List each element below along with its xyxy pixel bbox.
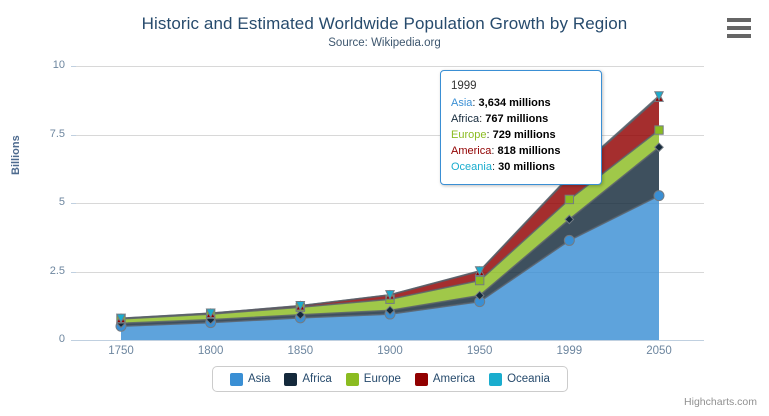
tooltip-row-africa: Africa: 767 millions xyxy=(451,111,591,127)
menu-bar-3 xyxy=(727,34,751,38)
hamburger-menu-icon[interactable] xyxy=(727,18,751,38)
y-axis-tick-label: 5 xyxy=(5,196,65,208)
tooltip-series-name: Oceania xyxy=(451,161,492,173)
menu-bar-2 xyxy=(727,26,751,30)
page-title: Historic and Estimated Worldwide Populat… xyxy=(0,14,769,34)
data-point-asia-1999[interactable] xyxy=(564,235,574,245)
legend-label: Oceania xyxy=(507,373,550,385)
tooltip-series-value: 30 millions xyxy=(498,161,555,173)
tooltip-series-value: 767 millions xyxy=(485,113,548,125)
tooltip-series-name: Europe xyxy=(451,129,486,141)
legend-swatch-oceania-icon xyxy=(489,373,502,386)
y-axis-title: Billions xyxy=(10,135,22,175)
tooltip-series-name: America xyxy=(451,145,491,157)
tooltip-row-europe: Europe: 729 millions xyxy=(451,127,591,143)
legend-label: Africa xyxy=(302,373,331,385)
legend-swatch-america-icon xyxy=(415,373,428,386)
legend-swatch-europe-icon xyxy=(346,373,359,386)
x-axis-tick-label: 1900 xyxy=(360,345,420,357)
tooltip-row-oceania: Oceania: 30 millions xyxy=(451,159,591,175)
tooltip-series-value: 818 millions xyxy=(497,145,560,157)
tooltip-row-america: America: 818 millions xyxy=(451,143,591,159)
x-axis-tick-label: 1800 xyxy=(181,345,241,357)
chart-plot-area xyxy=(76,66,704,340)
legend-item-oceania[interactable]: Oceania xyxy=(489,373,550,386)
x-axis-tick-label: 1999 xyxy=(539,345,599,357)
legend-item-europe[interactable]: Europe xyxy=(346,373,401,386)
tooltip-series-value: 729 millions xyxy=(493,129,556,141)
tooltip-header: 1999 xyxy=(451,78,591,94)
y-axis-tick-label: 0 xyxy=(5,333,65,345)
data-point-europe-1950[interactable] xyxy=(475,276,483,284)
data-point-asia-2050[interactable] xyxy=(654,191,664,201)
x-axis-tick-label: 1850 xyxy=(270,345,330,357)
tooltip-row-asia: Asia: 3,634 millions xyxy=(451,95,591,111)
y-axis-tick-label: 10 xyxy=(5,59,65,71)
legend-label: America xyxy=(433,373,475,385)
x-axis-line xyxy=(76,340,704,341)
x-axis-tick-label: 1950 xyxy=(450,345,510,357)
x-axis-tick-label: 2050 xyxy=(629,345,689,357)
y-axis-tick-label: 7.5 xyxy=(5,128,65,140)
tooltip-series-value: 3,634 millions xyxy=(479,97,551,109)
y-axis-tick-label: 2.5 xyxy=(5,265,65,277)
chart-subtitle: Source: Wikipedia.org xyxy=(0,37,769,49)
legend-item-america[interactable]: America xyxy=(415,373,475,386)
legend-label: Europe xyxy=(364,373,401,385)
legend-item-asia[interactable]: Asia xyxy=(230,373,270,386)
x-axis-tick-label: 1750 xyxy=(91,345,151,357)
tooltip-series-name: Asia xyxy=(451,97,472,109)
legend-item-africa[interactable]: Africa xyxy=(284,373,331,386)
menu-bar-1 xyxy=(727,18,751,22)
tooltip-series-name: Africa xyxy=(451,113,479,125)
chart-legend: AsiaAfricaEuropeAmericaOceania xyxy=(212,366,568,392)
tooltip: 1999 Asia: 3,634 millionsAfrica: 767 mil… xyxy=(440,70,602,185)
highcharts-container: Historic and Estimated Worldwide Populat… xyxy=(0,0,769,416)
legend-label: Asia xyxy=(248,373,270,385)
data-point-europe-2050[interactable] xyxy=(655,126,663,134)
legend-swatch-asia-icon xyxy=(230,373,243,386)
legend-swatch-africa-icon xyxy=(284,373,297,386)
tooltip-rows: Asia: 3,634 millionsAfrica: 767 millions… xyxy=(451,95,591,175)
data-point-europe-1999[interactable] xyxy=(565,195,573,203)
highcharts-credits[interactable]: Highcharts.com xyxy=(684,396,757,408)
